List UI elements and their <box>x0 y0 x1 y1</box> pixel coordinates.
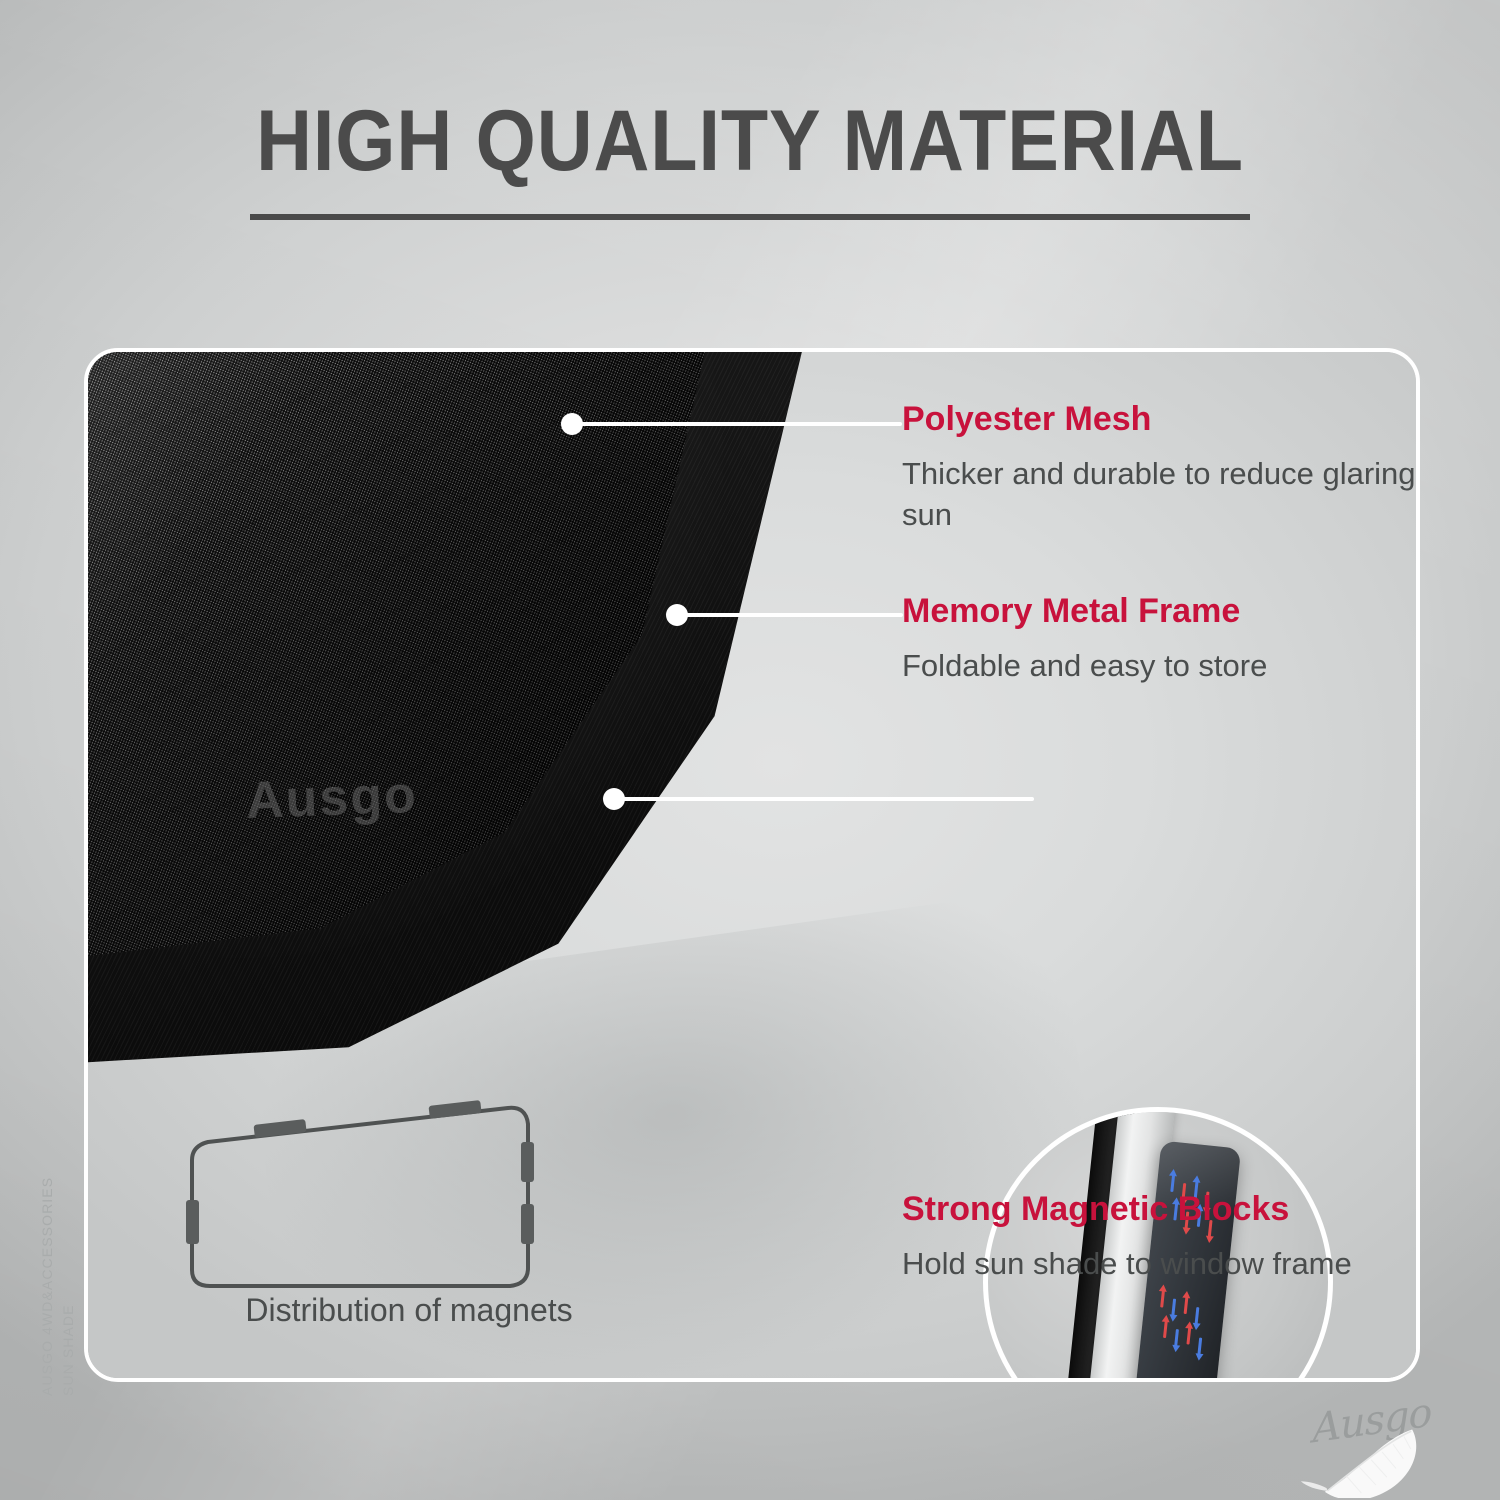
callout-memory-metal-frame: Memory Metal Frame Foldable and easy to … <box>902 592 1420 686</box>
magnet-segment <box>186 1200 199 1244</box>
infographic-canvas: HIGH QUALITY MATERIAL Ausgo P <box>0 0 1500 1500</box>
side-text-line-2: SUN SHADE <box>58 1136 79 1396</box>
polarity-arrow-icon <box>1163 1318 1168 1338</box>
magnet-distribution-svg <box>174 1100 574 1300</box>
side-text-line-1: AUSGO 4WD&ACCESSORIES <box>37 1136 58 1396</box>
content-panel: Ausgo Polyester Mesh Thicker and durable… <box>84 348 1420 1382</box>
callout-title-strong-magnetic-blocks: Strong Magnetic Blocks <box>902 1190 1420 1229</box>
callout-body-polyester-mesh: Thicker and durable to reduce glaring su… <box>902 453 1420 535</box>
polarity-arrow-icon <box>1197 1338 1202 1358</box>
magnet-segment <box>521 1142 534 1182</box>
callout-line-memory-metal-frame <box>677 613 903 617</box>
polarity-arrow-icon <box>1174 1329 1179 1349</box>
callout-polyester-mesh: Polyester Mesh Thicker and durable to re… <box>902 400 1420 536</box>
shade-outline <box>192 1108 528 1286</box>
magnet-segment <box>521 1204 534 1244</box>
polarity-arrow-icon <box>1171 1299 1176 1319</box>
magnet-diagram-caption: Distribution of magnets <box>174 1292 644 1329</box>
page-title: HIGH QUALITY MATERIAL <box>75 98 1425 184</box>
callout-body-memory-metal-frame: Foldable and easy to store <box>902 645 1420 686</box>
callout-strong-magnetic-blocks: Strong Magnetic Blocks Hold sun shade to… <box>902 1190 1420 1284</box>
magnet-distribution-diagram <box>174 1100 574 1305</box>
magnet-segment <box>428 1100 481 1119</box>
feather-icon <box>1290 1388 1490 1498</box>
product-image-sun-shade: Ausgo <box>84 348 828 1052</box>
panel-background: Ausgo Polyester Mesh Thicker and durable… <box>88 352 1416 1378</box>
side-branding-text: AUSGO 4WD&ACCESSORIES SUN SHADE <box>37 1136 79 1396</box>
callout-line-strong-magnetic-blocks <box>614 797 1034 801</box>
polarity-arrow-icon <box>1170 1172 1175 1192</box>
polarity-arrow-icon <box>1160 1287 1165 1307</box>
polarity-arrow-icon <box>1184 1294 1189 1314</box>
brand-logo: Ausgo <box>1290 1388 1490 1498</box>
polarity-arrow-icon <box>1194 1307 1199 1327</box>
callout-body-strong-magnetic-blocks: Hold sun shade to window frame <box>902 1243 1420 1284</box>
title-divider <box>250 214 1250 220</box>
polarity-arrow-icon <box>1186 1324 1191 1344</box>
page-title-block: HIGH QUALITY MATERIAL <box>0 98 1500 220</box>
callout-line-polyester-mesh <box>572 422 902 426</box>
callout-title-polyester-mesh: Polyester Mesh <box>902 400 1420 439</box>
callout-title-memory-metal-frame: Memory Metal Frame <box>902 592 1420 631</box>
